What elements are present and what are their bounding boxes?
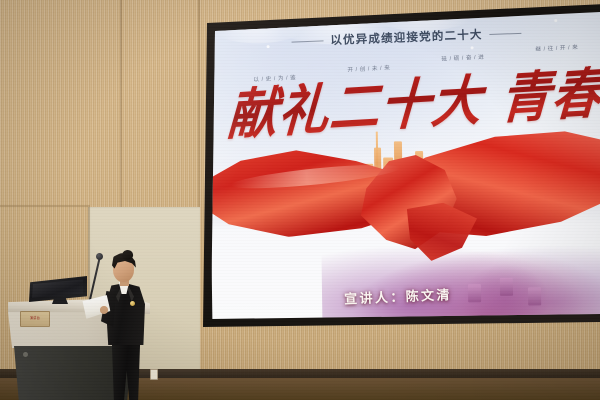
skyline-building xyxy=(424,159,435,203)
presentation-slide: 以优异成绩迎接党的二十大 以 / 史 / 为 / 鉴 开 / 创 / 未 / 来… xyxy=(208,4,600,326)
skyline-building xyxy=(374,148,382,204)
microphone-head[interactable] xyxy=(96,253,103,260)
header-rule-right xyxy=(490,32,522,34)
skyline-building xyxy=(403,167,415,203)
ink-wash-mountain xyxy=(446,154,600,226)
bokeh-dot xyxy=(554,19,557,22)
slide-title-block: 献礼二十大 青春心向党 xyxy=(226,68,600,140)
subtitle-phrase-4: 继 / 往 / 开 / 来 xyxy=(535,43,578,53)
podium-base-highlight xyxy=(23,352,28,357)
podium-plaque: 演讲台 xyxy=(20,311,50,327)
speaker-lapel-badge xyxy=(130,301,135,306)
podium-plaque-text: 演讲台 xyxy=(21,312,49,321)
header-rule-left xyxy=(291,40,323,42)
skyline-building xyxy=(435,173,444,203)
skyline-building xyxy=(415,151,424,203)
skyline-building xyxy=(364,164,374,204)
wall-trim-line xyxy=(0,205,90,207)
skyline-building xyxy=(383,157,394,203)
subtitle-phrase-3: 砥 / 砺 / 奋 / 进 xyxy=(441,53,484,63)
skyline-building xyxy=(394,141,403,203)
speaker-hand xyxy=(100,306,108,314)
ink-wash-mountain xyxy=(204,170,335,230)
confidence-monitor-stand xyxy=(52,298,68,304)
wall-power-socket xyxy=(150,369,158,380)
slide-header-text: 以优异成绩迎接党的二十大 xyxy=(330,26,483,48)
city-skyline-graphic xyxy=(358,129,453,204)
photo-scene: 以优异成绩迎接党的二十大 以 / 史 / 为 / 鉴 开 / 创 / 未 / 来… xyxy=(0,0,600,400)
